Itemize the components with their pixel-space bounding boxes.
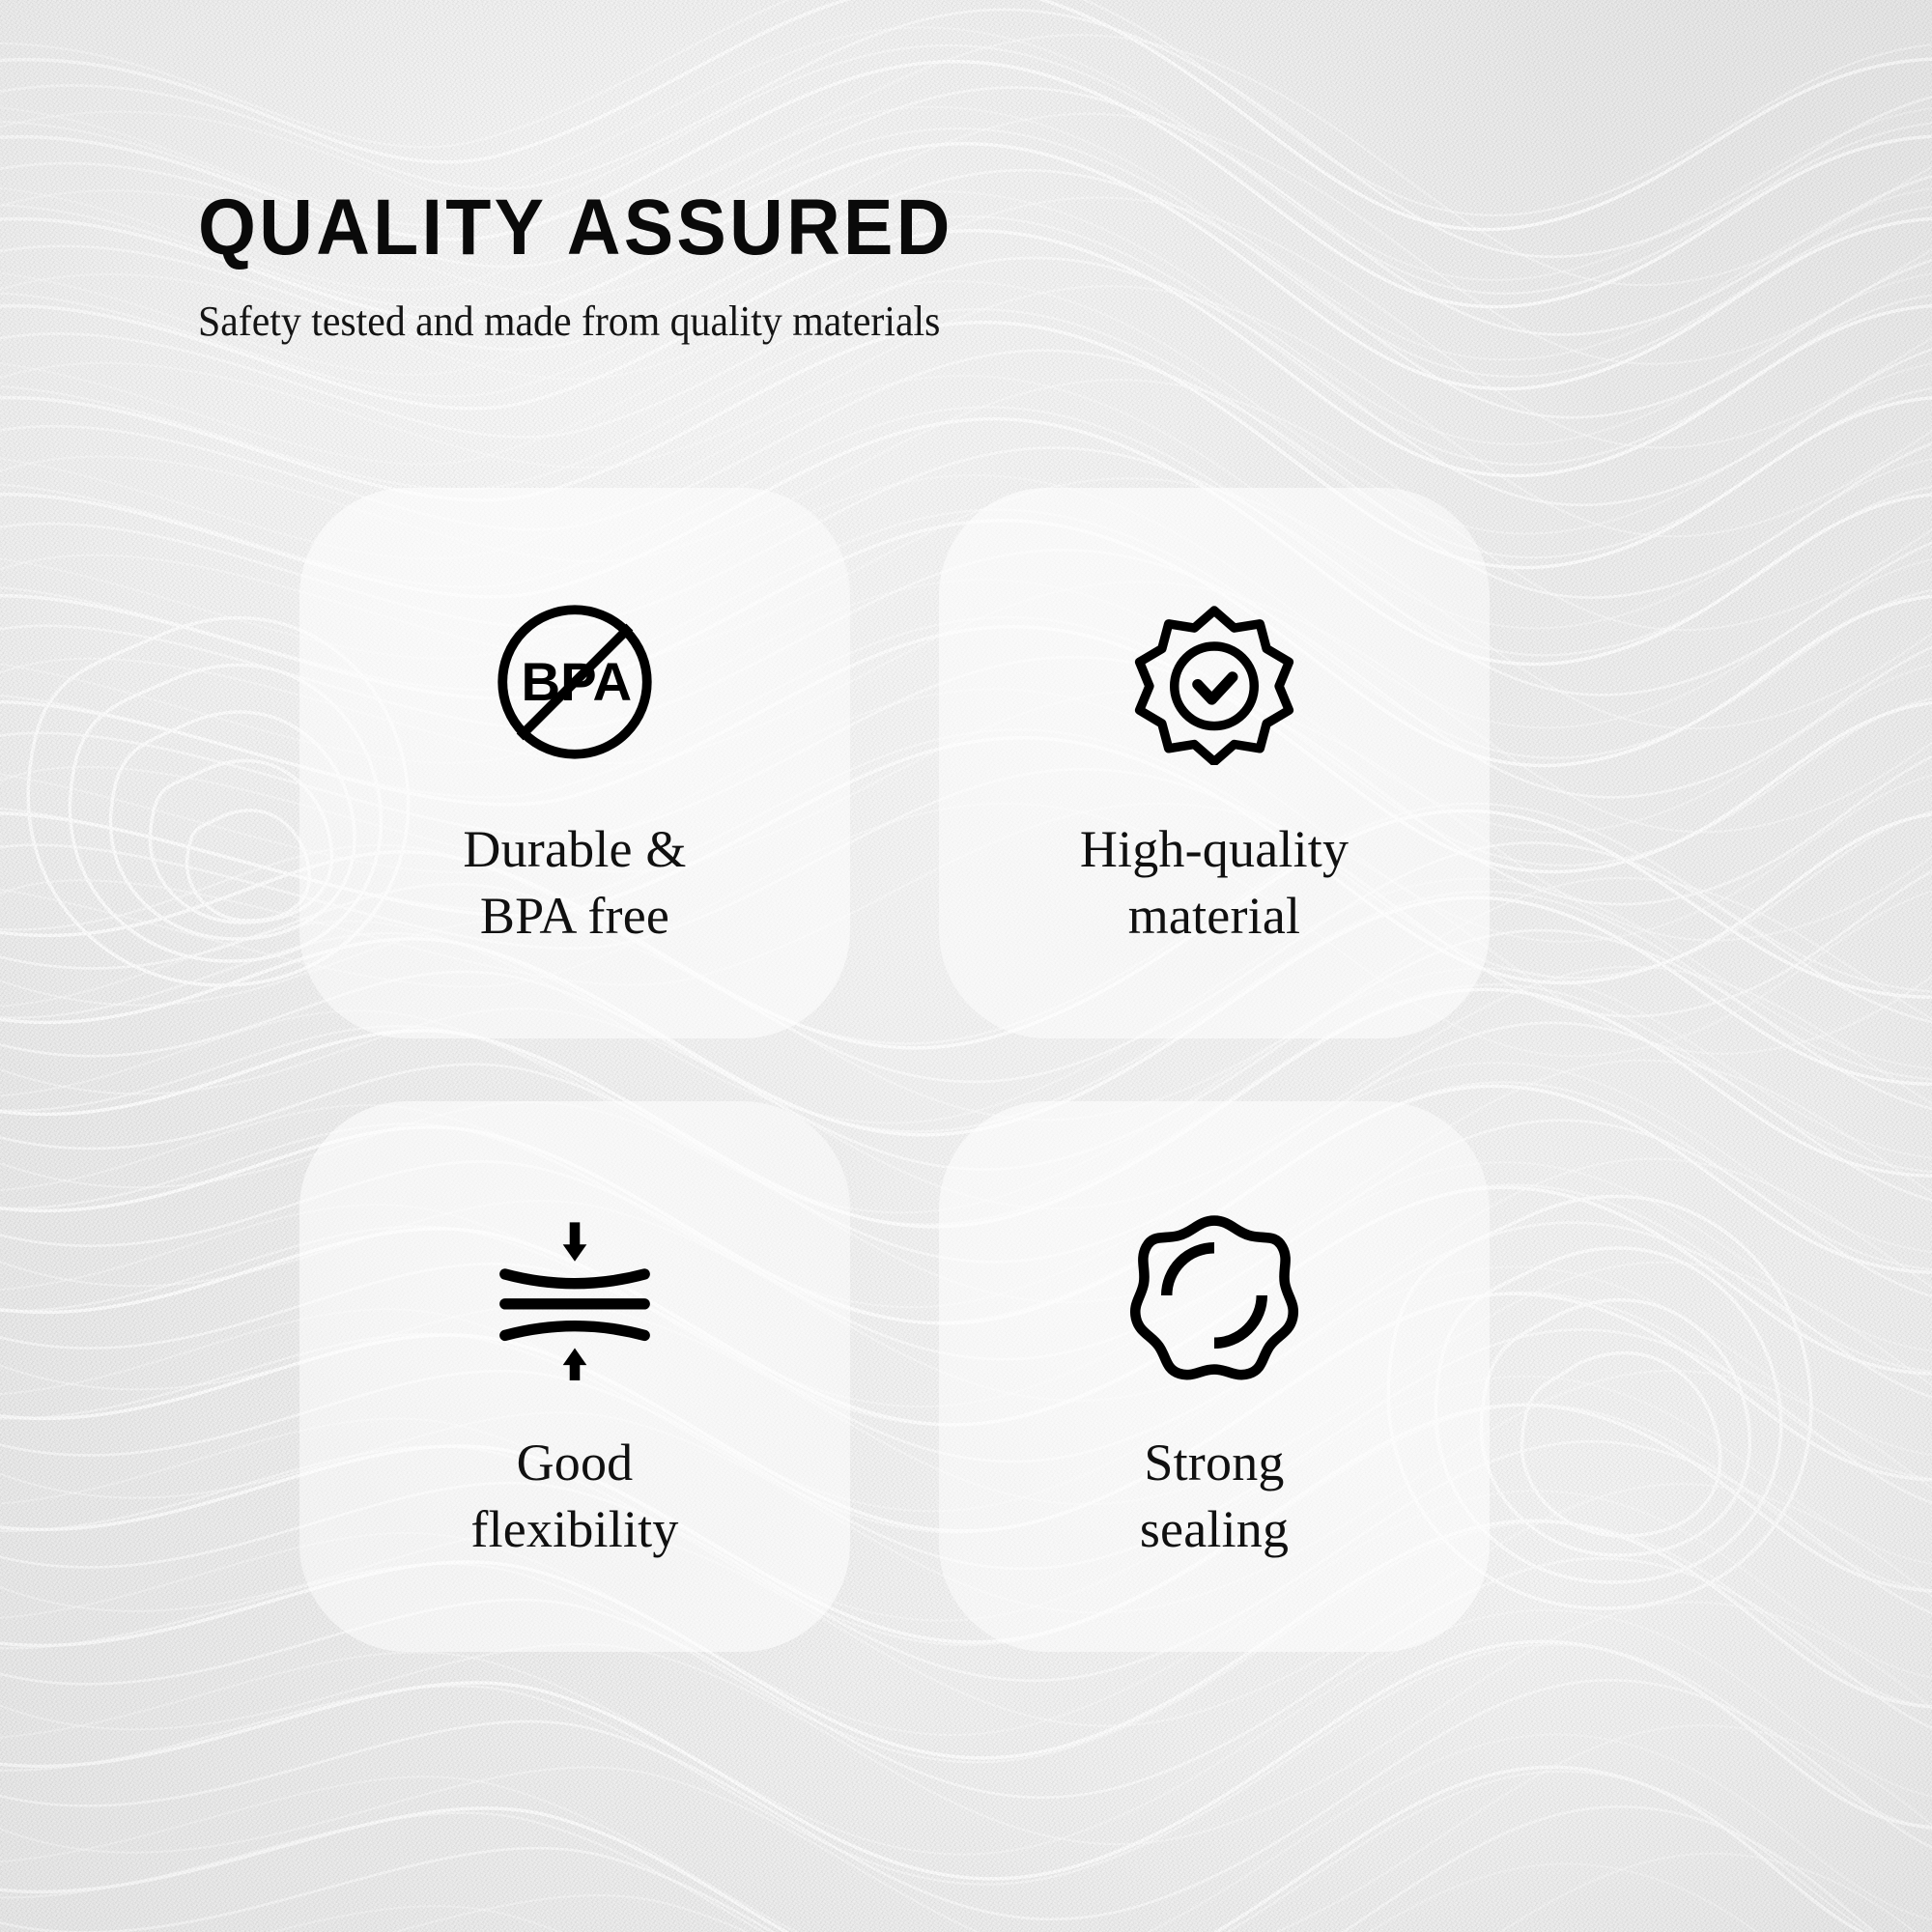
feature-card-high-quality-material[interactable]: High-quality material bbox=[939, 488, 1490, 1038]
feature-card-label: Durable & BPA free bbox=[463, 816, 686, 950]
feature-card-strong-sealing[interactable]: Strong sealing bbox=[939, 1101, 1490, 1652]
seal-rosette-icon bbox=[1122, 1204, 1306, 1387]
quality-assured-infographic: QUALITY ASSURED Safety tested and made f… bbox=[0, 0, 1932, 1932]
feature-card-label: Strong sealing bbox=[1140, 1430, 1289, 1563]
page-title: QUALITY ASSURED bbox=[198, 188, 1288, 268]
header: QUALITY ASSURED Safety tested and made f… bbox=[198, 188, 1357, 343]
feature-card-label: Good flexibility bbox=[470, 1430, 678, 1563]
bpa-free-icon: BPA bbox=[483, 590, 667, 774]
feature-card-durable-bpa-free[interactable]: BPA Durable & BPA free bbox=[299, 488, 850, 1038]
feature-card-label: High-quality material bbox=[1080, 816, 1349, 950]
quality-badge-check-icon bbox=[1122, 590, 1306, 774]
flexibility-arrows-icon bbox=[483, 1204, 667, 1387]
feature-card-good-flexibility[interactable]: Good flexibility bbox=[299, 1101, 850, 1652]
feature-card-grid: BPA Durable & BPA free High-quality mate… bbox=[299, 488, 1652, 1652]
svg-text:BPA: BPA bbox=[521, 652, 632, 711]
page-subtitle: Safety tested and made from quality mate… bbox=[198, 300, 1299, 343]
